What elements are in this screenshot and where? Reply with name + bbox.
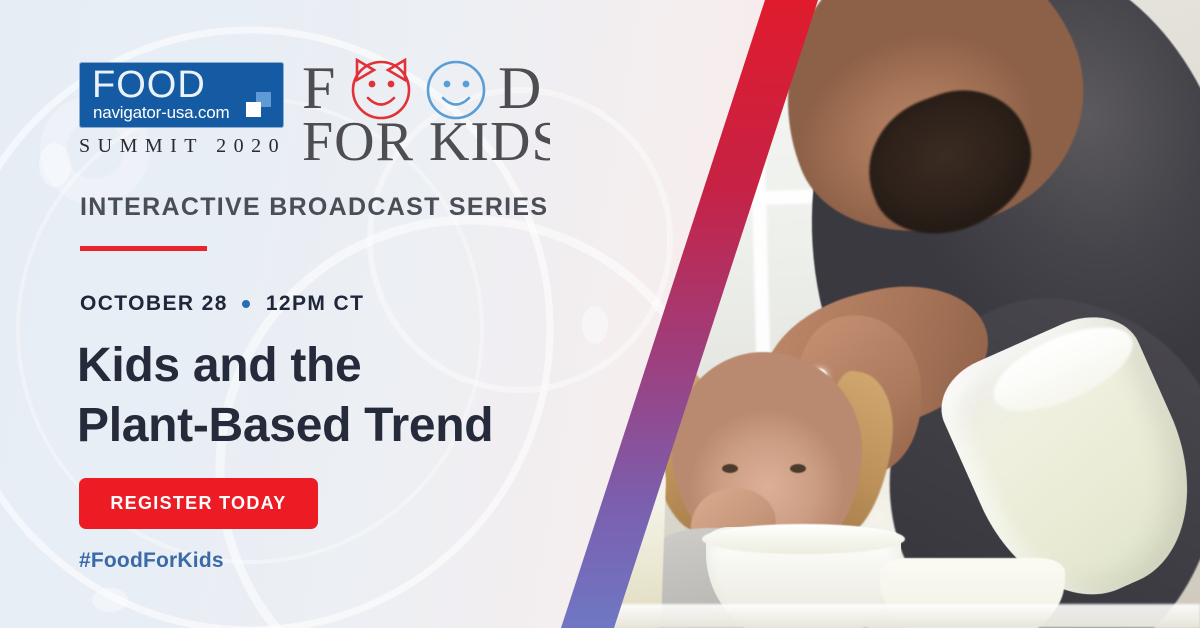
smiley-eyes-blue <box>444 81 470 88</box>
smiley-eyes-red <box>369 81 395 88</box>
foodnavigator-logo[interactable]: FOOD navigator-usa.com SUMMIT 2020 <box>79 62 286 158</box>
smiley-face-icon <box>428 62 484 118</box>
summit-label: SUMMIT 2020 <box>79 135 286 158</box>
foodnavigator-url: navigator-usa.com <box>93 103 229 123</box>
logo-lockup: FOOD navigator-usa.com SUMMIT 2020 F D F… <box>79 62 550 166</box>
series-label: INTERACTIVE BROADCAST SERIES <box>80 193 548 222</box>
headline-line-2: Plant-Based Trend <box>77 396 493 456</box>
square-icon <box>246 102 261 117</box>
accent-rule <box>80 246 207 251</box>
page-title: Kids and the Plant-Based Trend <box>77 336 493 457</box>
event-datetime: OCTOBER 28 12PM CT <box>80 292 364 316</box>
promo-banner: FOOD navigator-usa.com SUMMIT 2020 F D F… <box>0 0 1200 628</box>
foodnavigator-wordmark: FOOD <box>92 64 206 107</box>
event-time: 12PM CT <box>266 292 365 316</box>
foodnavigator-logo-box: FOOD navigator-usa.com <box>79 62 284 128</box>
event-date: OCTOBER 28 <box>80 292 228 316</box>
register-button[interactable]: REGISTER TODAY <box>79 478 318 529</box>
content-column: FOOD navigator-usa.com SUMMIT 2020 F D F… <box>0 0 600 628</box>
smiley-face-icon <box>353 60 409 118</box>
headline-line-1: Kids and the <box>77 336 493 396</box>
food-for-kids-logo[interactable]: F D FOR KIDS <box>302 56 550 166</box>
ffk-for-kids: FOR KIDS <box>302 111 550 166</box>
hashtag-label[interactable]: #FoodForKids <box>79 549 224 573</box>
bullet-separator-icon <box>242 300 250 308</box>
